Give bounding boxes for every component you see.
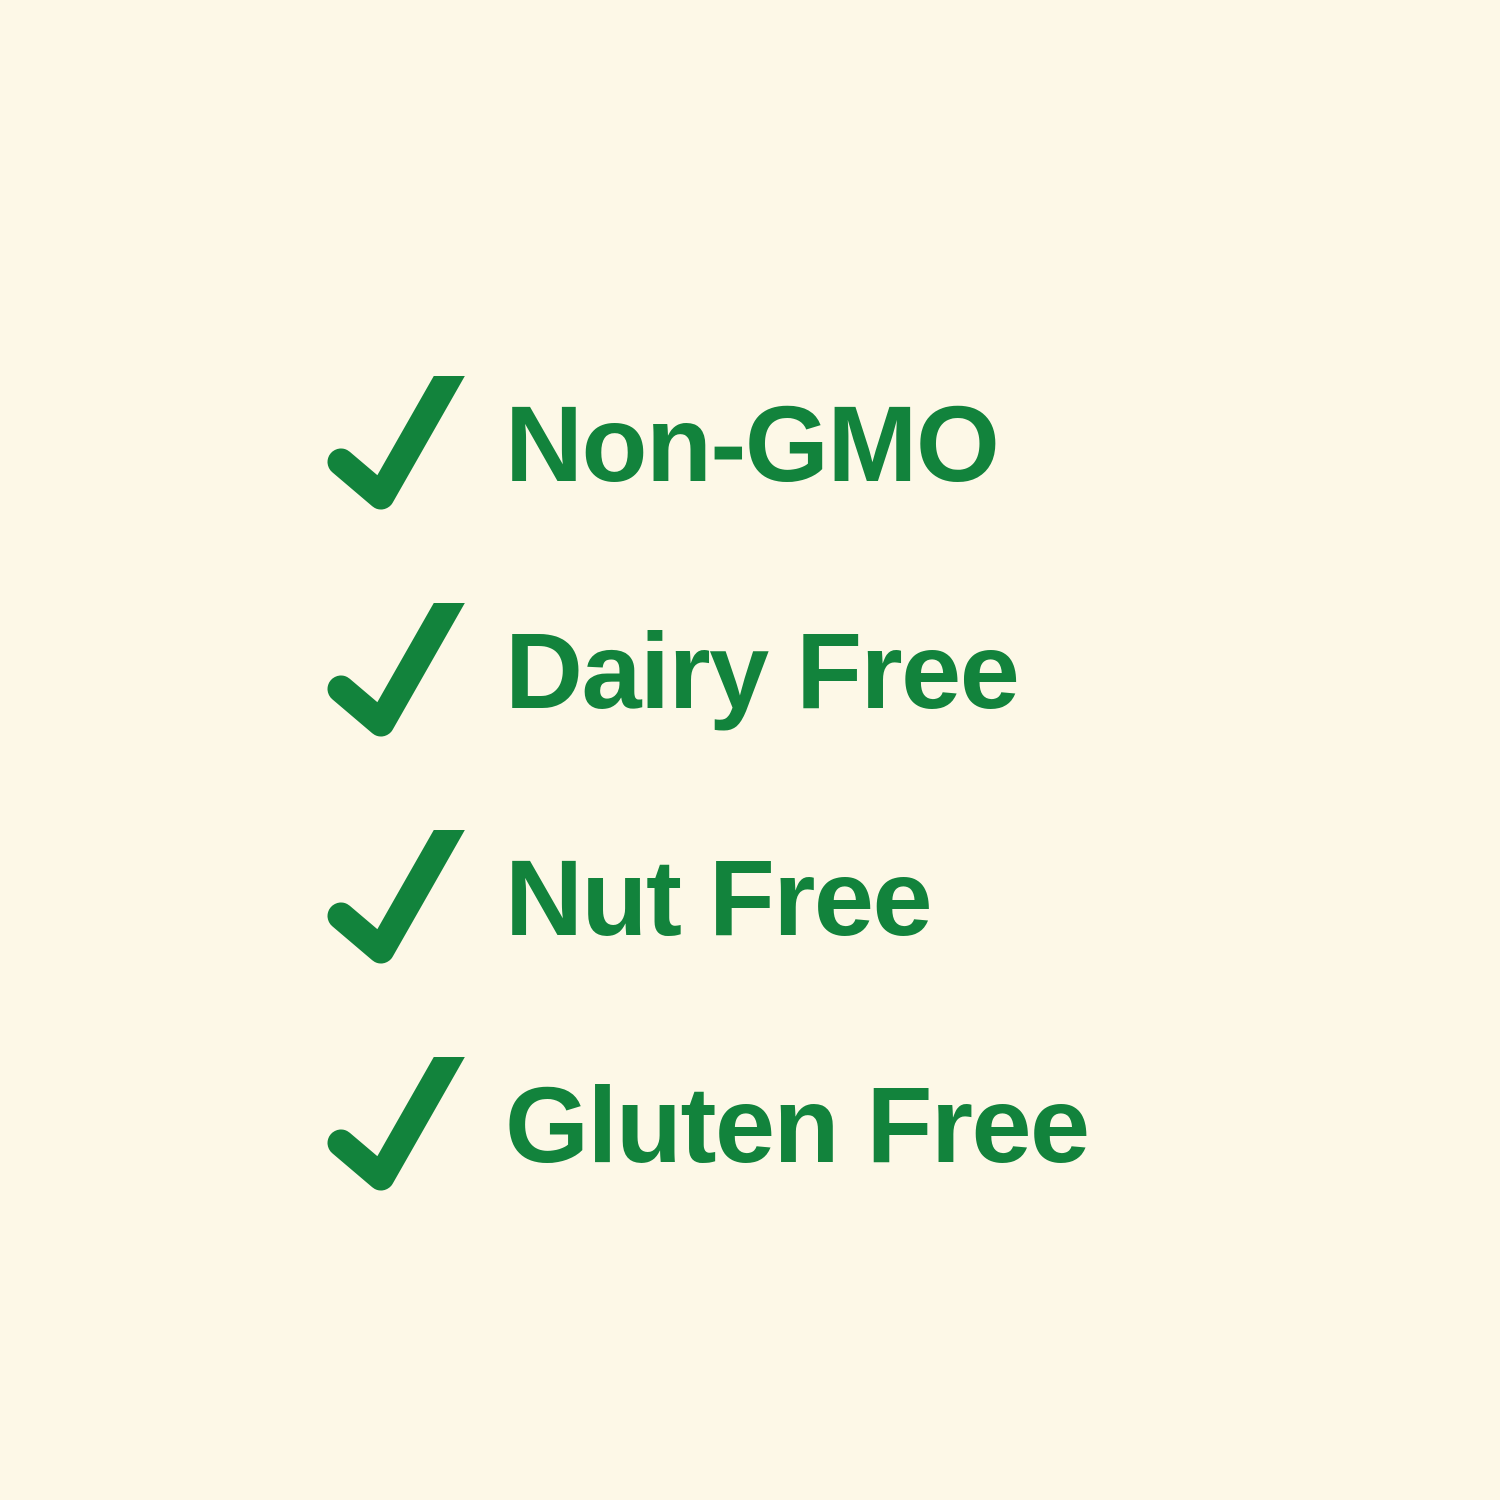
list-item: Nut Free bbox=[325, 784, 1325, 1011]
checkmark-icon bbox=[325, 369, 505, 519]
checkmark-icon bbox=[325, 1050, 505, 1200]
claim-label: Nut Free bbox=[505, 844, 931, 952]
list-item: Dairy Free bbox=[325, 557, 1325, 784]
checkmark-icon bbox=[325, 823, 505, 973]
list-item: Non-GMO bbox=[325, 330, 1325, 557]
claims-list: Non-GMO Dairy Free Nut Free bbox=[325, 330, 1325, 1238]
claim-label: Gluten Free bbox=[505, 1071, 1089, 1179]
claim-label: Non-GMO bbox=[505, 390, 998, 498]
checkmark-icon bbox=[325, 596, 505, 746]
claim-label: Dairy Free bbox=[505, 617, 1018, 725]
list-item: Gluten Free bbox=[325, 1011, 1325, 1238]
product-claims-panel: Non-GMO Dairy Free Nut Free bbox=[0, 0, 1500, 1500]
